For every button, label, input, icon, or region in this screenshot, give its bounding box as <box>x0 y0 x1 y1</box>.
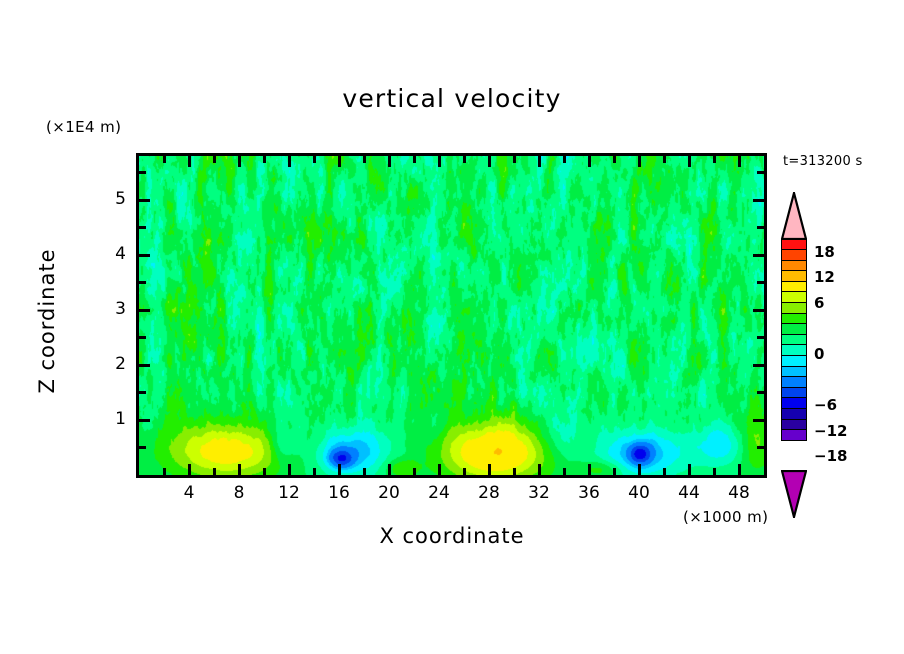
colorbar-tick-label: 6 <box>814 294 824 312</box>
x-major-tick-top <box>738 156 741 167</box>
colorbar-over-arrow <box>781 192 807 240</box>
y-minor-tick-right <box>757 336 764 339</box>
y-tick-label: 2 <box>100 354 126 374</box>
contour-plot-page: vertical velocity (×1E4 m) t=313200 s 48… <box>0 0 904 654</box>
x-major-tick <box>488 464 491 475</box>
x-major-tick-top <box>688 156 691 167</box>
x-minor-tick <box>363 468 366 475</box>
x-minor-tick-top <box>363 156 366 163</box>
x-major-tick-top <box>488 156 491 167</box>
y-axis-title: Z coordinate <box>35 211 59 431</box>
colorbar-tick-label: 12 <box>814 268 835 286</box>
y-minor-tick <box>139 391 146 394</box>
y-tick-label: 3 <box>100 299 126 319</box>
z-axis-unit-label: (×1E4 m) <box>46 118 121 136</box>
x-tick-label: 16 <box>319 483 359 503</box>
x-minor-tick <box>263 468 266 475</box>
x-minor-tick <box>413 468 416 475</box>
x-major-tick-top <box>588 156 591 167</box>
x-minor-tick <box>313 468 316 475</box>
y-tick-label: 1 <box>100 409 126 429</box>
y-major-tick <box>139 309 150 312</box>
x-minor-tick <box>513 468 516 475</box>
x-minor-tick <box>713 468 716 475</box>
x-tick-label: 48 <box>719 483 759 503</box>
y-major-tick-right <box>753 309 764 312</box>
x-minor-tick <box>213 468 216 475</box>
x-major-tick <box>338 464 341 475</box>
x-minor-tick-top <box>213 156 216 163</box>
x-minor-tick-top <box>163 156 166 163</box>
x-major-tick-top <box>338 156 341 167</box>
x-tick-label: 44 <box>669 483 709 503</box>
x-major-tick-top <box>438 156 441 167</box>
y-major-tick <box>139 199 150 202</box>
x-major-tick <box>388 464 391 475</box>
colorbar-tick-label: −12 <box>814 422 847 440</box>
x-tick-label: 40 <box>619 483 659 503</box>
y-tick-label: 5 <box>100 189 126 209</box>
y-major-tick-right <box>753 419 764 422</box>
y-major-tick-right <box>753 199 764 202</box>
x-tick-label: 20 <box>369 483 409 503</box>
colorbar-tick-label: −18 <box>814 447 847 465</box>
y-minor-tick <box>139 336 146 339</box>
x-major-tick-top <box>188 156 191 167</box>
x-tick-label: 12 <box>269 483 309 503</box>
y-minor-tick <box>139 446 146 449</box>
x-tick-label: 36 <box>569 483 609 503</box>
colorbar-under-arrow <box>781 470 807 518</box>
x-major-tick <box>538 464 541 475</box>
x-minor-tick <box>663 468 666 475</box>
colorbar-tick-label: 18 <box>814 243 835 261</box>
y-minor-tick-right <box>757 391 764 394</box>
x-minor-tick-top <box>663 156 666 163</box>
x-major-tick <box>288 464 291 475</box>
x-major-tick <box>688 464 691 475</box>
x-minor-tick <box>563 468 566 475</box>
x-major-tick-top <box>388 156 391 167</box>
x-major-tick <box>188 464 191 475</box>
y-major-tick <box>139 419 150 422</box>
x-minor-tick-top <box>513 156 516 163</box>
y-major-tick <box>139 364 150 367</box>
colorbar-tick-label: −6 <box>814 396 837 414</box>
plot-area <box>136 153 767 478</box>
y-minor-tick-right <box>757 171 764 174</box>
page-title: vertical velocity <box>0 84 904 113</box>
x-tick-label: 8 <box>219 483 259 503</box>
x-major-tick-top <box>538 156 541 167</box>
y-minor-tick-right <box>757 446 764 449</box>
x-tick-label: 24 <box>419 483 459 503</box>
x-major-tick <box>738 464 741 475</box>
y-minor-tick <box>139 171 146 174</box>
x-major-tick <box>238 464 241 475</box>
y-tick-label: 4 <box>100 244 126 264</box>
x-major-tick <box>588 464 591 475</box>
x-tick-label: 28 <box>469 483 509 503</box>
y-minor-tick-right <box>757 281 764 284</box>
colorbar-band <box>781 429 807 441</box>
x-tick-label: 32 <box>519 483 559 503</box>
x-major-tick <box>638 464 641 475</box>
x-axis-title: X coordinate <box>0 524 904 548</box>
timestamp-label: t=313200 s <box>783 154 863 169</box>
contour-field-canvas <box>139 156 764 475</box>
y-minor-tick-right <box>757 226 764 229</box>
x-minor-tick-top <box>713 156 716 163</box>
x-minor-tick-top <box>313 156 316 163</box>
x-major-tick-top <box>288 156 291 167</box>
x-major-tick <box>438 464 441 475</box>
colorbar <box>781 240 807 470</box>
y-minor-tick <box>139 226 146 229</box>
y-major-tick <box>139 254 150 257</box>
y-major-tick-right <box>753 254 764 257</box>
x-minor-tick-top <box>463 156 466 163</box>
x-tick-label: 4 <box>169 483 209 503</box>
x-major-tick-top <box>638 156 641 167</box>
x-minor-tick-top <box>263 156 266 163</box>
x-minor-tick <box>163 468 166 475</box>
y-major-tick-right <box>753 364 764 367</box>
x-major-tick-top <box>238 156 241 167</box>
x-minor-tick <box>613 468 616 475</box>
x-minor-tick <box>463 468 466 475</box>
y-minor-tick <box>139 281 146 284</box>
x-minor-tick-top <box>613 156 616 163</box>
x-minor-tick-top <box>413 156 416 163</box>
colorbar-tick-label: 0 <box>814 345 824 363</box>
x-minor-tick-top <box>563 156 566 163</box>
